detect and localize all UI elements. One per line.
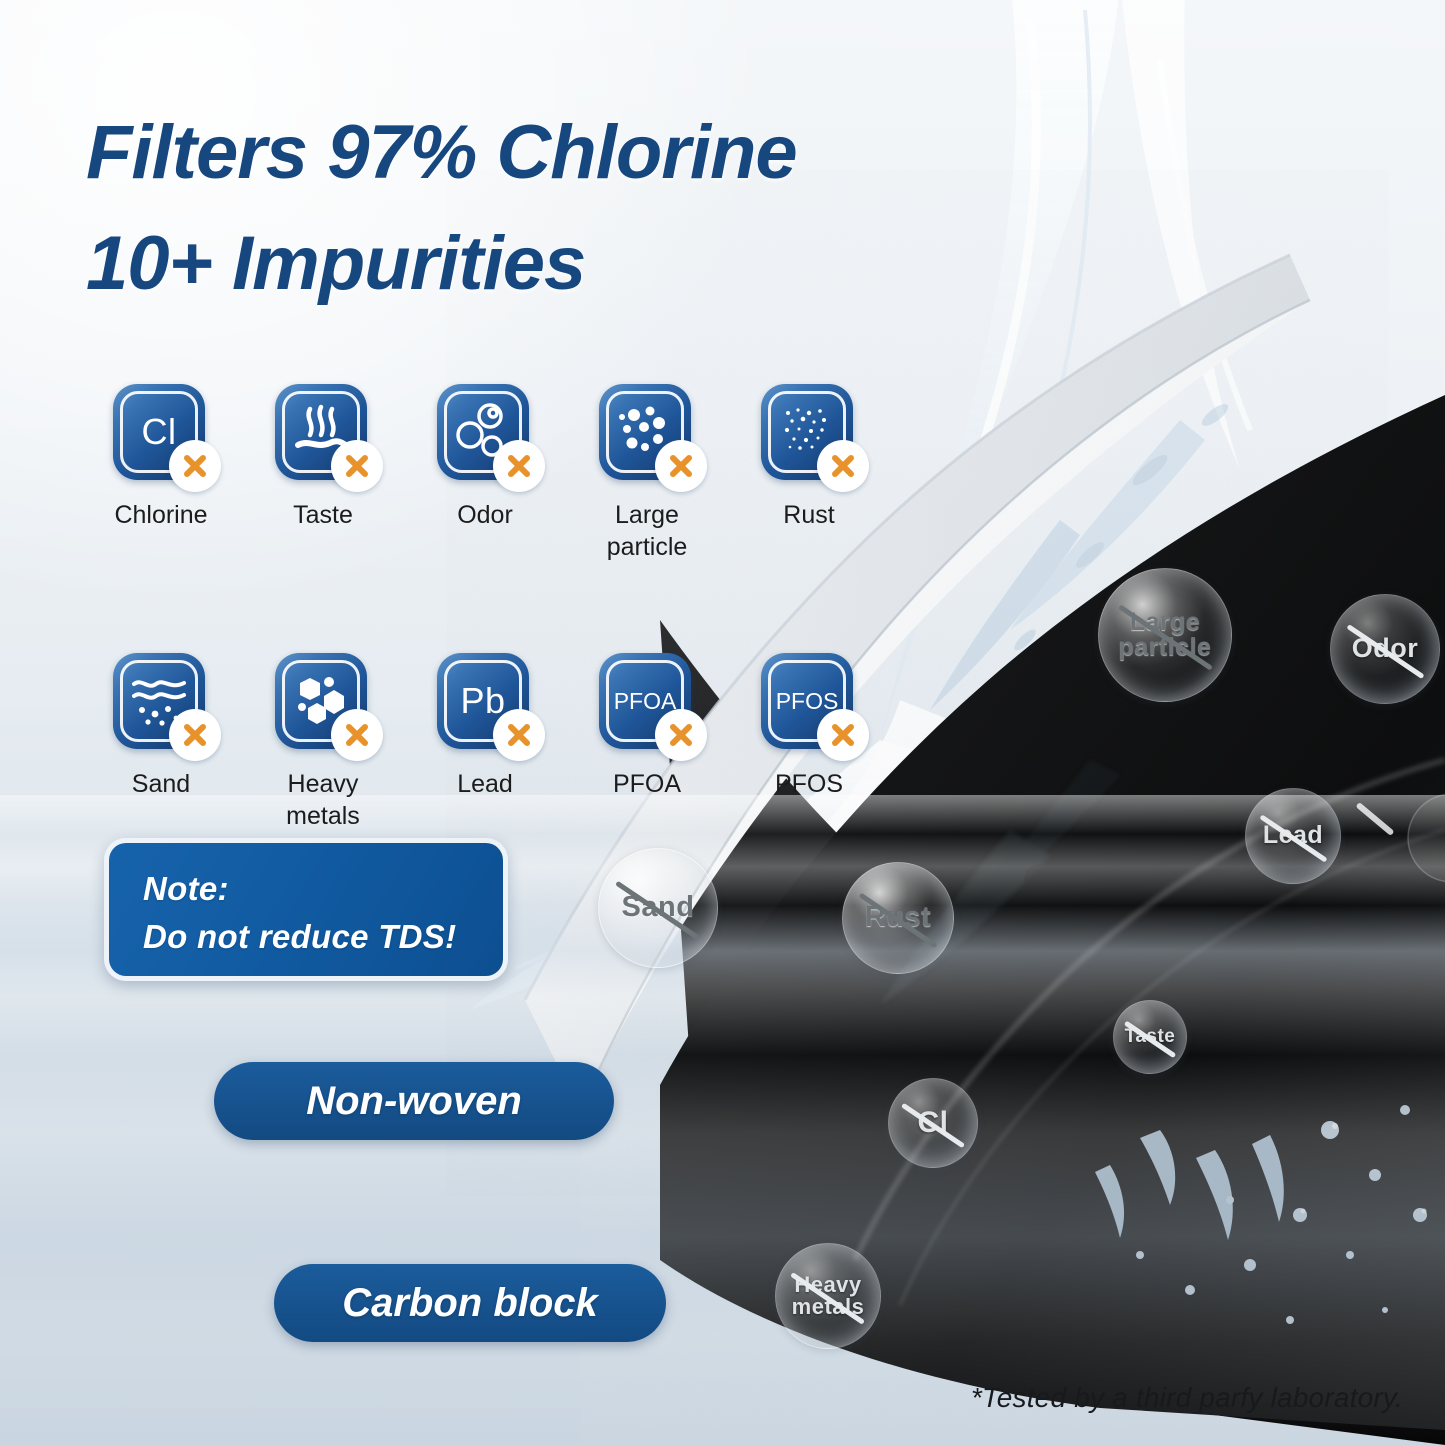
headline-line-1: Filters 97% Chlorine <box>86 110 797 195</box>
water-droplets <box>1095 1105 1427 1324</box>
pfoa-icon: PFOA <box>595 651 699 755</box>
icon-cell-pfos[interactable]: PFOS PFOS <box>728 651 890 832</box>
icon-row-2: Sand <box>80 651 890 832</box>
chlorine-cl-icon: Cl <box>109 382 213 486</box>
tile-glyph: Cl <box>142 414 177 450</box>
icon-label: Heavymetals <box>286 769 360 832</box>
stray-slash-mark <box>1355 802 1394 836</box>
icon-label: Odor <box>457 500 513 532</box>
icon-cell-lead[interactable]: Pb Lead <box>404 651 566 832</box>
icon-cell-large-particle[interactable]: Largeparticle <box>566 382 728 563</box>
icon-cell-chlorine[interactable]: Cl Chlorine <box>80 382 242 563</box>
layer-label-non-woven: Non-woven <box>214 1062 614 1140</box>
bubble-rust: Rust <box>842 862 954 974</box>
orange-x-cross-icon <box>655 709 707 761</box>
icon-label: Largeparticle <box>607 500 688 563</box>
bubble-sand: Sand <box>598 848 718 968</box>
icon-cell-odor[interactable]: Odor <box>404 382 566 563</box>
headline-line-2: 10+ Impurities <box>86 209 1096 320</box>
footnote-disclaimer: *Tested by a third parfy laboratory. <box>971 1382 1403 1414</box>
icon-cell-sand[interactable]: Sand <box>80 651 242 832</box>
layer-label-carbon-block: Carbon block <box>274 1264 666 1342</box>
icon-label: Lead <box>457 769 513 801</box>
orange-x-cross-icon <box>331 709 383 761</box>
icon-row-1: Cl Chlorine <box>80 382 890 563</box>
impurity-icon-grid: Cl Chlorine <box>80 382 890 832</box>
orange-x-cross-icon <box>817 709 869 761</box>
tile-glyph: Pb <box>460 683 505 719</box>
icon-label: Rust <box>783 500 834 532</box>
icon-label: Taste <box>293 500 353 532</box>
icon-cell-rust[interactable]: Rust <box>728 382 890 563</box>
note-title: Note: <box>143 865 503 913</box>
tile-glyph: PFOS <box>776 690 839 713</box>
heavy-metals-hex-icon <box>271 651 375 755</box>
icon-label: PFOA <box>613 769 681 801</box>
icon-label: Chlorine <box>114 500 207 532</box>
bubble-lead: Lead <box>1245 788 1341 884</box>
orange-x-cross-icon <box>169 709 221 761</box>
orange-x-cross-icon <box>655 440 707 492</box>
note-body: Do not reduce TDS! <box>143 913 503 961</box>
note-callout-box: Note: Do not reduce TDS! <box>104 838 508 981</box>
orange-x-cross-icon <box>817 440 869 492</box>
taste-waves-icon <box>271 382 375 486</box>
odor-bubbles-icon <box>433 382 537 486</box>
lead-pb-icon: Pb <box>433 651 537 755</box>
bubble-chlorine: Cl <box>888 1078 978 1168</box>
tile-glyph: PFOA <box>614 690 677 713</box>
bubble-odor: Odor <box>1330 594 1440 704</box>
icon-label: PFOS <box>775 769 843 801</box>
sand-sediment-icon <box>109 651 213 755</box>
pfos-icon: PFOS <box>757 651 861 755</box>
bubble-partial-right <box>1408 794 1445 882</box>
orange-x-cross-icon <box>493 440 545 492</box>
product-infographic: Filters 97% Chlorine 10+ Impurities Cl C… <box>0 0 1445 1445</box>
headline: Filters 97% Chlorine 10+ Impurities <box>86 98 1096 320</box>
large-particle-icon <box>595 382 699 486</box>
orange-x-cross-icon <box>493 709 545 761</box>
icon-cell-taste[interactable]: Taste <box>242 382 404 563</box>
icon-cell-heavy-metals[interactable]: Heavymetals <box>242 651 404 832</box>
bubble-taste: Taste <box>1113 1000 1187 1074</box>
icon-cell-pfoa[interactable]: PFOA PFOA <box>566 651 728 832</box>
orange-x-cross-icon <box>331 440 383 492</box>
orange-x-cross-icon <box>169 440 221 492</box>
bubble-heavy-metals: Heavymetals <box>775 1243 881 1349</box>
rust-speckles-icon <box>757 382 861 486</box>
bubble-large-particle: Largeparticle <box>1098 568 1232 702</box>
icon-label: Sand <box>132 769 190 801</box>
